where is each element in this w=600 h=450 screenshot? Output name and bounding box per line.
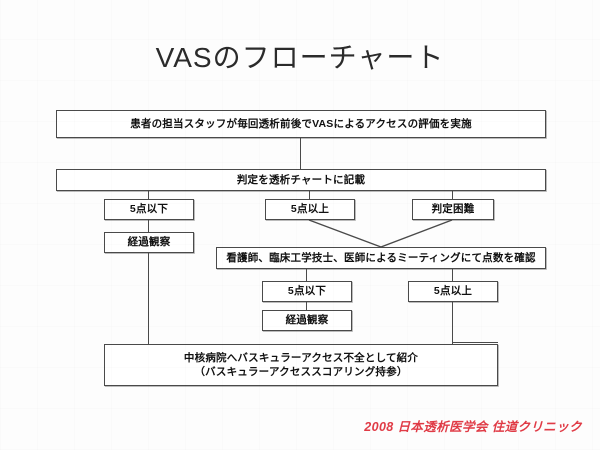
node-followup-1-label: 経過観察 <box>105 235 193 249</box>
connector-record-to-score-low-1 <box>148 191 149 199</box>
node-followup-1: 経過観察 <box>104 232 194 253</box>
connector-score-high-2-down <box>452 302 453 344</box>
node-undetermined: 判定困難 <box>412 199 494 220</box>
connector-meeting-to-score-high-2 <box>452 269 453 281</box>
connector-score-low-2-to-followup-2 <box>306 302 307 310</box>
connector-undetermined-to-meeting <box>381 220 452 247</box>
connector-meeting-to-score-low-2 <box>306 269 307 281</box>
connector-score-high-1-to-meeting <box>309 220 381 247</box>
connector-assessment-to-record <box>300 138 301 169</box>
node-assessment-label: 患者の担当スタッフが毎回透析前後でVASによるアクセスの評価を実施 <box>57 117 545 131</box>
node-referral-label-line2: （バスキュラーアクセススコアリング持参） <box>105 365 497 379</box>
footer-credit: 2008 日本透析医学会 住道クリニック <box>364 416 582 435</box>
node-score-low-1: 5点以下 <box>104 199 194 220</box>
node-followup-2: 経過観察 <box>262 310 352 331</box>
connector-score-low-1-to-followup-1 <box>148 220 149 232</box>
node-score-high-2-label: 5点以上 <box>409 284 497 298</box>
node-score-high-1: 5点以上 <box>265 199 355 220</box>
node-referral: 中核病院へバスキュラーアクセス不全として紹介 （バスキュラーアクセススコアリング… <box>104 344 498 386</box>
node-undetermined-label: 判定困難 <box>413 202 493 216</box>
node-record: 判定を透析チャートに記載 <box>56 169 546 191</box>
node-score-high-1-label: 5点以上 <box>266 202 354 216</box>
node-meeting: 看護師、臨床工学技士、医師によるミーティングにて点数を確認 <box>216 247 546 269</box>
connector-record-to-undetermined <box>452 191 453 199</box>
flowchart-canvas: VASのフローチャート 患者の担当スタッフが毎回透析前後でVASによるアクセスの… <box>0 0 600 450</box>
node-followup-2-label: 経過観察 <box>263 313 351 327</box>
node-referral-label-line1: 中核病院へバスキュラーアクセス不全として紹介 <box>105 351 497 365</box>
connector-followup-1-to-referral <box>148 253 149 344</box>
node-score-low-2-label: 5点以下 <box>263 284 351 298</box>
connector-record-to-score-high-1 <box>309 191 310 199</box>
node-record-label: 判定を透析チャートに記載 <box>57 173 545 187</box>
node-score-low-1-label: 5点以下 <box>105 202 193 216</box>
node-meeting-label: 看護師、臨床工学技士、医師によるミーティングにて点数を確認 <box>217 251 545 265</box>
node-score-high-2: 5点以上 <box>408 281 498 302</box>
node-assessment: 患者の担当スタッフが毎回透析前後でVASによるアクセスの評価を実施 <box>56 110 546 138</box>
page-title: VASのフローチャート <box>0 36 600 76</box>
node-score-low-2: 5点以下 <box>262 281 352 302</box>
